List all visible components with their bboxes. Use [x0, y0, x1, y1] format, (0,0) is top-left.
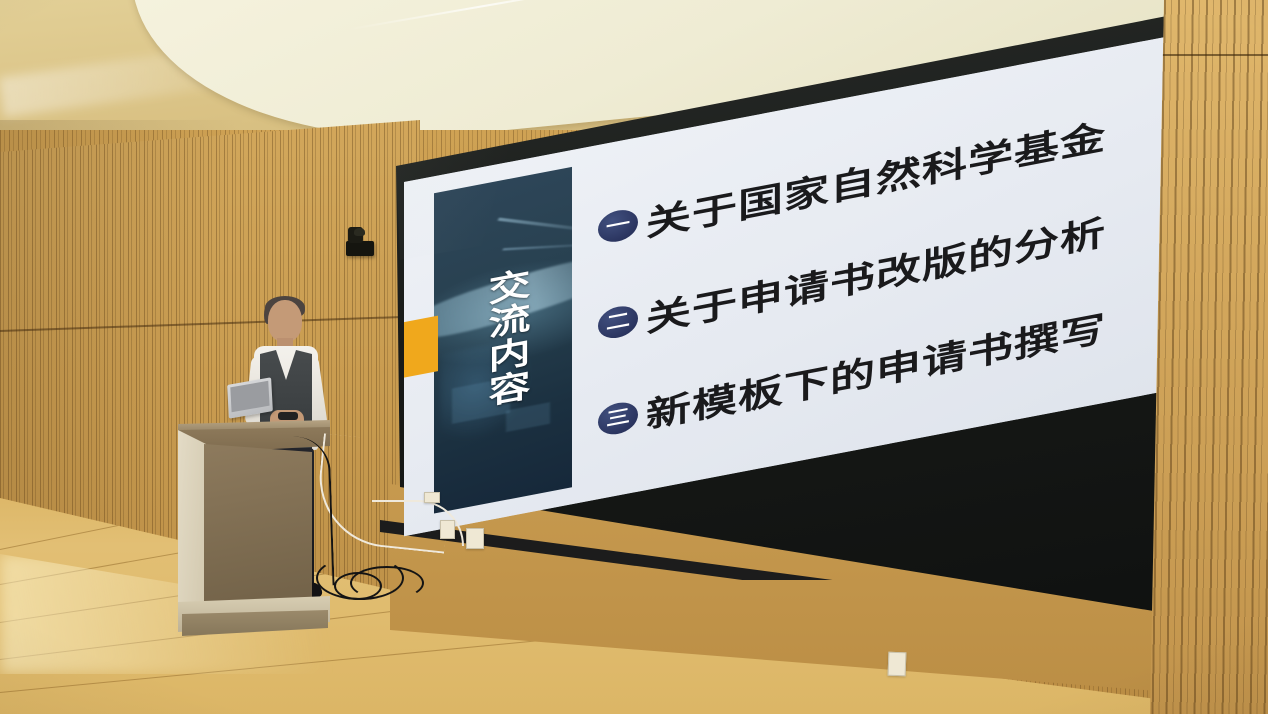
podium-side-panel	[178, 430, 206, 626]
camera-head	[348, 227, 363, 243]
slide-accent-block	[404, 316, 438, 381]
bullet-marker-three: 三	[598, 399, 638, 437]
wall-outlet[interactable]	[466, 528, 484, 549]
right-wall-panel	[1150, 0, 1268, 714]
bullet-marker-two: 二	[598, 303, 638, 341]
wall-plate	[424, 492, 440, 503]
slide-title-panel: 交流内容	[434, 167, 572, 514]
right-wall-seam	[1150, 54, 1268, 56]
bullet-marker-one: 一	[598, 207, 638, 245]
wall-camera-icon	[344, 225, 374, 259]
lecture-hall-photo: 交流内容 一 关于国家自然科学基金 二 关于申请书改版的分析 三 新模板下的申请…	[0, 0, 1268, 714]
slide-panel-title: 交流内容	[479, 203, 527, 474]
presenter-head	[268, 300, 302, 342]
camera-mount	[346, 241, 374, 256]
wall-seam	[0, 315, 420, 332]
black-cable-loop	[334, 572, 382, 600]
wall-outlet[interactable]	[888, 652, 907, 677]
wall-outlet[interactable]	[440, 520, 455, 539]
camera-lens	[354, 228, 365, 236]
laptop-screen	[230, 381, 269, 412]
soffit-crease	[348, 0, 683, 30]
